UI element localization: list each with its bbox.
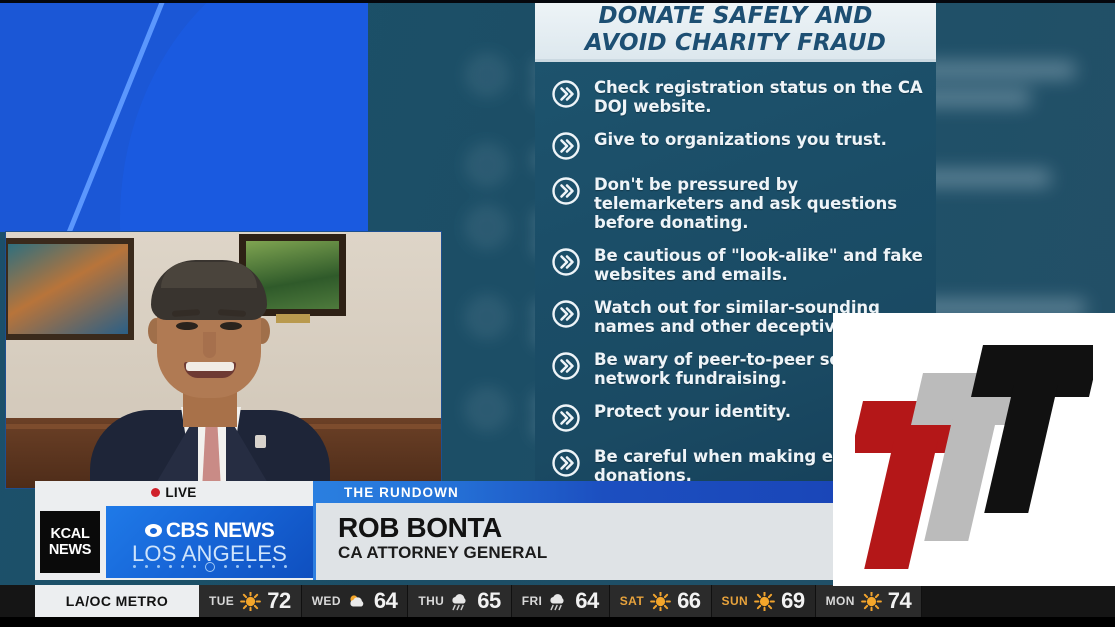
weather-day-label: SAT [620,594,644,608]
cbs-eye-icon [145,524,162,537]
logo-dot-row [106,562,313,572]
rain-cloud-icon [548,592,569,611]
sun-icon [240,592,261,611]
weather-temp: 72 [267,588,290,614]
graphic-title-line-2: Avoid Charity Fraud [585,30,886,57]
weather-temp: 65 [477,588,500,614]
weather-ticker: LA/OC METRO TUE72WED 64THU 65FRI 64SAT66… [0,585,1115,617]
weather-day-label: TUE [209,594,234,608]
weather-day-label: THU [418,594,444,608]
painting-plaque [276,314,310,323]
weather-day-cell: WED 64 [302,585,409,617]
guest-name: ROB BONTA [338,512,840,543]
graphic-title-bar: Donate Safely and Avoid Charity Fraud [535,0,936,62]
chevron-double-right-circle-icon [551,176,581,206]
segment-label: THE RUNDOWN [344,485,459,500]
weather-day-label: SUN [722,594,749,608]
branding-block: KCAL NEWS CBS NEWS LOS ANGELES [35,503,313,580]
weather-temp: 64 [575,588,598,614]
graphic-bullet-text: Protect your identity. [594,402,791,421]
lower-third-chyron: LIVE THE RUNDOWN KCAL NEWS CBS NEWS LOS … [35,481,840,580]
live-dot-icon [151,488,160,497]
weather-day-cell: FRI 64 [512,585,610,617]
sun-icon [861,592,882,611]
segment-bar: THE RUNDOWN [313,481,840,503]
weather-temp: 66 [677,588,700,614]
graphic-bullet-item: Be cautious of "look-alike" and fake web… [551,246,926,284]
sun-icon [650,592,671,611]
weather-region-badge: LA/OC METRO [35,585,199,617]
sun-icon [754,592,775,611]
weather-day-label: WED [312,594,341,608]
guest-identification: ROB BONTA CA ATTORNEY GENERAL [313,503,840,580]
top-letterbox [0,0,1115,3]
graphic-bullet-item: Give to organizations you trust. [551,130,926,161]
graphic-title-line-1: Donate Safely and [599,3,873,29]
chevron-double-right-circle-icon [551,131,581,161]
network-label: CBS NEWS [166,519,274,543]
chevron-double-right-circle-icon [551,403,581,433]
studio-blue-graphic [0,0,368,232]
live-label: LIVE [165,485,196,500]
rain-cloud-icon [450,592,471,611]
kcal-line-1: KCAL [50,526,89,542]
chevron-double-right-circle-icon [551,247,581,277]
kcal-news-logo: KCAL NEWS [40,511,100,573]
chevron-double-right-circle-icon [551,79,581,109]
weather-day-cell: MON74 [816,585,923,617]
weather-day-label: MON [826,594,855,608]
weather-day-cell: THU 65 [408,585,511,617]
weather-day-label: FRI [522,594,543,608]
graphic-bullet-text: Give to organizations you trust. [594,130,887,149]
ttt-logo-overlay [833,313,1115,586]
weather-day-cell: TUE72 [199,585,302,617]
weather-temp: 74 [888,588,911,614]
graphic-bullet-item: Check registration status on the CA DOJ … [551,78,926,116]
chevron-double-right-circle-icon [551,299,581,329]
cbs-news-la-logo: CBS NEWS LOS ANGELES [106,506,313,578]
weather-day-list: TUE72WED 64THU 65FRI 64SAT66SUN69MON74 [199,585,922,617]
chevron-double-right-circle-icon [551,351,581,381]
guest-title: CA ATTORNEY GENERAL [338,543,840,563]
graphic-bullet-text: Check registration status on the CA DOJ … [594,78,926,116]
chevron-double-right-circle-icon [551,448,581,478]
weather-temp: 69 [781,588,804,614]
weather-temp: 64 [374,588,397,614]
broadcast-screen: Donate Safely and Avoid Charity Fraud Ch… [0,0,1115,627]
wall-painting-left [5,238,134,340]
page-title: Donate Safely and Avoid Charity Fraud [585,3,886,57]
weather-day-cell: SAT66 [610,585,712,617]
graphic-bullet-item: Don't be pressured by telemarketers and … [551,175,926,232]
graphic-bullet-text: Don't be pressured by telemarketers and … [594,175,926,232]
sun-cloud-icon [347,592,368,611]
kcal-line-2: NEWS [49,542,91,558]
live-badge: LIVE [35,481,313,503]
bottom-letterbox [0,617,1115,627]
weather-day-cell: SUN69 [712,585,816,617]
guest-video-inset [5,231,442,489]
lapel-pin [255,435,266,448]
logo-ring-icon [205,562,215,572]
weather-region-label: LA/OC METRO [66,593,168,609]
graphic-bullet-text: Be cautious of "look-alike" and fake web… [594,246,926,284]
ttt-logo-icon [855,331,1093,569]
